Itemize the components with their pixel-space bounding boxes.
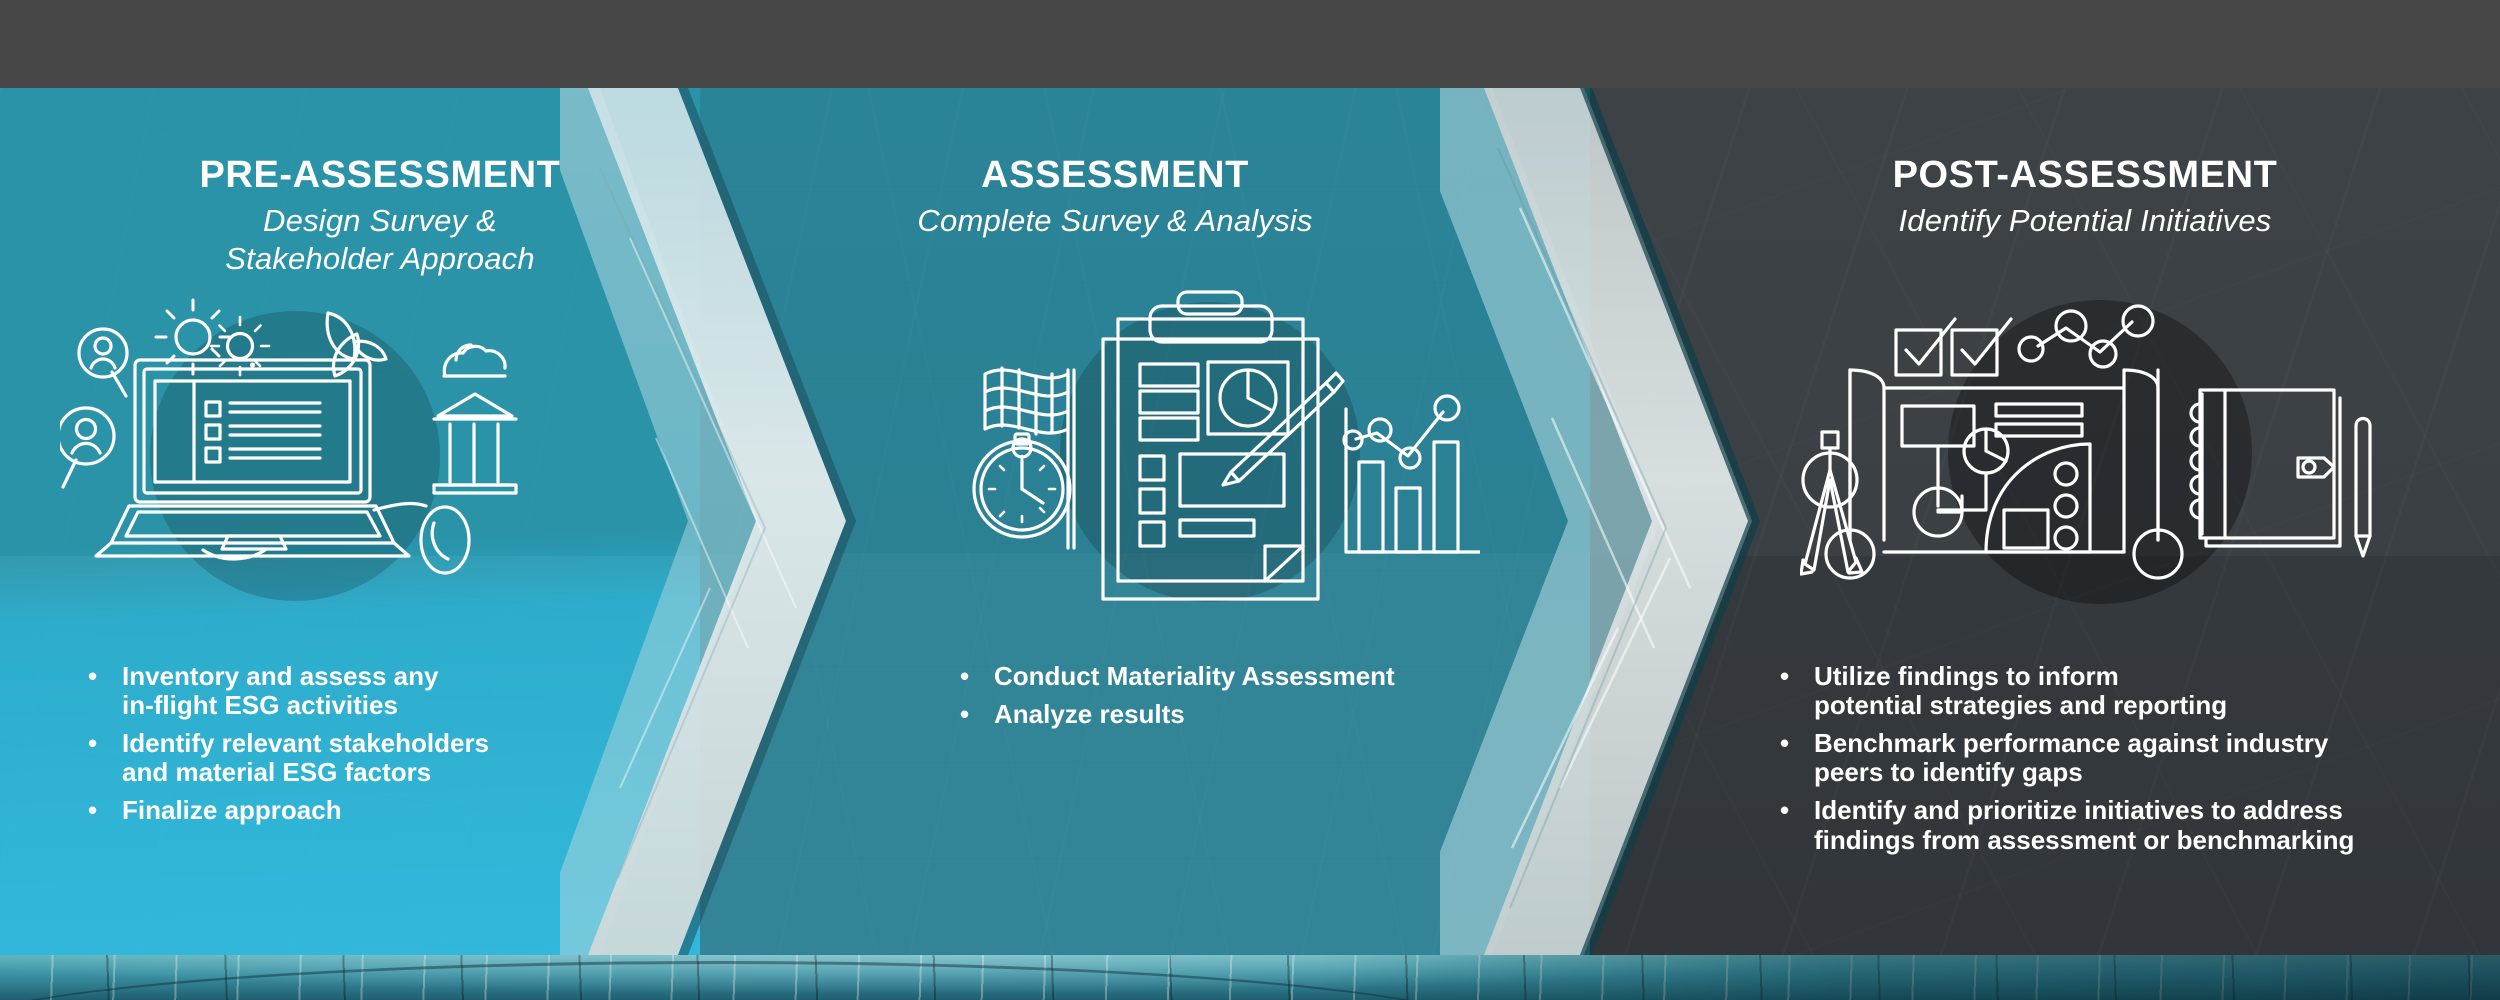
stage-subtitle-line1: Complete Survey & Analysis [917, 203, 1312, 238]
stage-title: ASSESSMENT [760, 156, 1470, 196]
bullet-marker: • [88, 662, 122, 720]
pencil-icon [2356, 419, 2370, 557]
pre-assessment-bullet-list: • Inventory and assess any in-flight ESG… [88, 662, 558, 835]
list-item-text: Conduct Materiality Assessment [994, 662, 1480, 691]
stage-title: POST-ASSESSMENT [1710, 156, 2460, 196]
icon-backdrop-circle [1060, 302, 1360, 602]
person-pin-icon [79, 329, 127, 396]
list-item-text: Finalize approach [122, 796, 558, 825]
checkbox-checked-icon [1896, 319, 1955, 375]
list-item: • Inventory and assess any in-flight ESG… [88, 662, 558, 720]
list-item-line: Finalize approach [122, 796, 558, 825]
post-assessment-icon-cluster [1800, 284, 2380, 604]
bank-building-icon [434, 394, 516, 493]
post-assessment-bullet-list: • Utilize findings to inform potential s… [1780, 662, 2460, 864]
assessment-heading: ASSESSMENT Complete Survey & Analysis [760, 156, 1470, 240]
stage-title: PRE-ASSESSMENT [0, 156, 760, 196]
list-item-text: Identify and prioritize initiatives to a… [1814, 796, 2460, 854]
list-item-line: in-flight ESG activities [122, 691, 558, 720]
stage-subtitle-line1: Design Survey & [263, 203, 497, 238]
list-item: • Finalize approach [88, 796, 558, 825]
bullet-marker: • [88, 729, 122, 787]
bullet-marker: • [1780, 796, 1814, 854]
stopwatch-icon [974, 434, 1070, 537]
list-item-text: Inventory and assess any in-flight ESG a… [122, 662, 558, 720]
bullet-marker: • [88, 796, 122, 825]
list-item-line: Conduct Materiality Assessment [994, 662, 1480, 691]
list-item-text: Utilize findings to inform potential str… [1814, 662, 2460, 720]
list-item: • Utilize findings to inform potential s… [1780, 662, 2460, 720]
pre-assessment-icon-cluster [60, 288, 530, 608]
bullet-marker: • [960, 662, 994, 691]
list-item-text: Identify relevant stakeholders and mater… [122, 729, 558, 787]
bottom-strip-shade [1320, 955, 2500, 1000]
bar-line-chart-icon [1344, 396, 1480, 552]
stage-panel-post-assessment: POST-ASSESSMENT Identify Potential Initi… [1590, 88, 2500, 955]
assessment-bullet-list: • Conduct Materiality Assessment • Analy… [960, 662, 1480, 738]
header-bar [0, 0, 2500, 88]
stage-subtitle-line1: Identify Potential Initiatives [1898, 203, 2271, 238]
pre-assessment-heading: PRE-ASSESSMENT Design Survey & Stakehold… [0, 156, 760, 278]
list-item: • Identify and prioritize initiatives to… [1780, 796, 2460, 854]
cloud-icon [444, 345, 505, 376]
stage-subtitle: Complete Survey & Analysis [760, 202, 1470, 240]
bullet-marker: • [1780, 729, 1814, 787]
compass-divider-icon [1801, 432, 1862, 574]
list-item: • Benchmark performance against industry… [1780, 729, 2460, 787]
list-item-line: Benchmark performance against industry [1814, 729, 2460, 758]
bullet-marker: • [1780, 662, 1814, 720]
stage-subtitle: Identify Potential Initiatives [1710, 202, 2460, 240]
stage-panel-pre-assessment: PRE-ASSESSMENT Design Survey & Stakehold… [0, 88, 760, 955]
person-pin-icon [60, 408, 114, 487]
bullet-marker: • [960, 700, 994, 729]
bottom-photo-strip [0, 955, 2500, 1000]
list-item-text: Benchmark performance against industry p… [1814, 729, 2460, 787]
stage-subtitle: Design Survey & Stakeholder Approach [0, 202, 760, 278]
list-item-line: findings from assessment or benchmarking [1814, 826, 2460, 855]
list-item: • Conduct Materiality Assessment [960, 662, 1480, 691]
list-item-line: Utilize findings to inform [1814, 662, 2460, 691]
list-item-line: and material ESG factors [122, 758, 558, 787]
list-item-text: Analyze results [994, 700, 1480, 729]
list-item-line: potential strategies and reporting [1814, 691, 2460, 720]
list-item-line: Identify relevant stakeholders [122, 729, 558, 758]
stage-subtitle-line2: Stakeholder Approach [225, 241, 535, 276]
list-item-line: Inventory and assess any [122, 662, 558, 691]
list-item: • Analyze results [960, 700, 1480, 729]
stage-panel-assessment: ASSESSMENT Complete Survey & Analysis • … [700, 88, 1650, 955]
list-item: • Identify relevant stakeholders and mat… [88, 729, 558, 787]
list-item-line: Analyze results [994, 700, 1480, 729]
list-item-line: Identify and prioritize initiatives to a… [1814, 796, 2460, 825]
post-assessment-heading: POST-ASSESSMENT Identify Potential Initi… [1710, 156, 2460, 240]
list-item-line: peers to identify gaps [1814, 758, 2460, 787]
icon-backdrop-circle [1948, 300, 2252, 604]
materiality-assessment-infographic: PRE-ASSESSMENT Design Survey & Stakehold… [0, 0, 2500, 1000]
assessment-icon-cluster [940, 284, 1480, 604]
